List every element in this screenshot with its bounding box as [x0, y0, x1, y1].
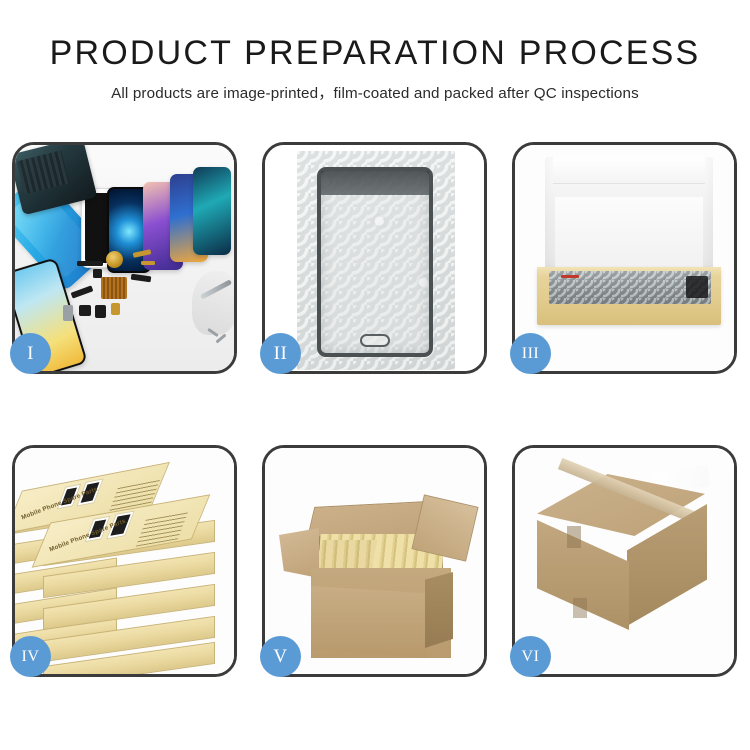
step-panel-2: II: [262, 142, 487, 374]
step-5-image-frame: [265, 448, 484, 674]
product-preparation-process-page: PRODUCT PREPARATION PROCESS All products…: [0, 0, 750, 750]
step-4-image-frame: Mobile Phone Spare Parts Mobile Phone Sp…: [15, 448, 234, 674]
sealed-carton-photo: [515, 448, 734, 674]
step-panel-5: V: [262, 445, 487, 677]
step-badge-4: IV: [10, 636, 51, 677]
step-panel-6: VI: [512, 445, 737, 677]
step-2-image-frame: [265, 145, 484, 371]
step-badge-6: VI: [510, 636, 551, 677]
step-panel-1: I: [12, 142, 237, 374]
open-kraft-box-photo: [515, 145, 734, 371]
carton-side-face-icon: [425, 572, 453, 648]
bubble-wrap-texture: [297, 151, 455, 370]
chip-grid-part-icon: [101, 277, 127, 299]
page-title: PRODUCT PREPARATION PROCESS: [0, 34, 750, 72]
foam-insert-icon: [555, 197, 703, 269]
stacked-retail-boxes-photo: Mobile Phone Spare Parts Mobile Phone Sp…: [15, 448, 234, 674]
step-badge-5: V: [260, 636, 301, 677]
step-badge-3: III: [510, 333, 551, 374]
phone-screens-and-parts-photo: [15, 145, 234, 371]
speaker-part-icon: [106, 251, 123, 268]
step-3-image-frame: [515, 145, 734, 371]
step-panel-4: Mobile Phone Spare Parts Mobile Phone Sp…: [12, 445, 237, 677]
open-carton-photo: [265, 448, 484, 674]
bubble-wrapped-screen-photo: [265, 145, 484, 371]
phone-screen-outline-icon: [317, 167, 433, 357]
carton-front-face-icon: [311, 586, 427, 658]
step-panel-3: III: [512, 142, 737, 374]
wrapped-product-icon: [549, 271, 711, 304]
step-badge-2: II: [260, 333, 301, 374]
step-badge-1: I: [10, 333, 51, 374]
home-button-icon: [360, 334, 390, 347]
teal-phone-icon: [193, 167, 231, 255]
step-1-image-frame: [15, 145, 234, 371]
process-steps-grid: I II: [12, 142, 738, 677]
page-subtitle: All products are image-printed，film-coat…: [0, 81, 750, 103]
header: PRODUCT PREPARATION PROCESS All products…: [0, 34, 750, 103]
step-6-image-frame: [515, 448, 734, 674]
